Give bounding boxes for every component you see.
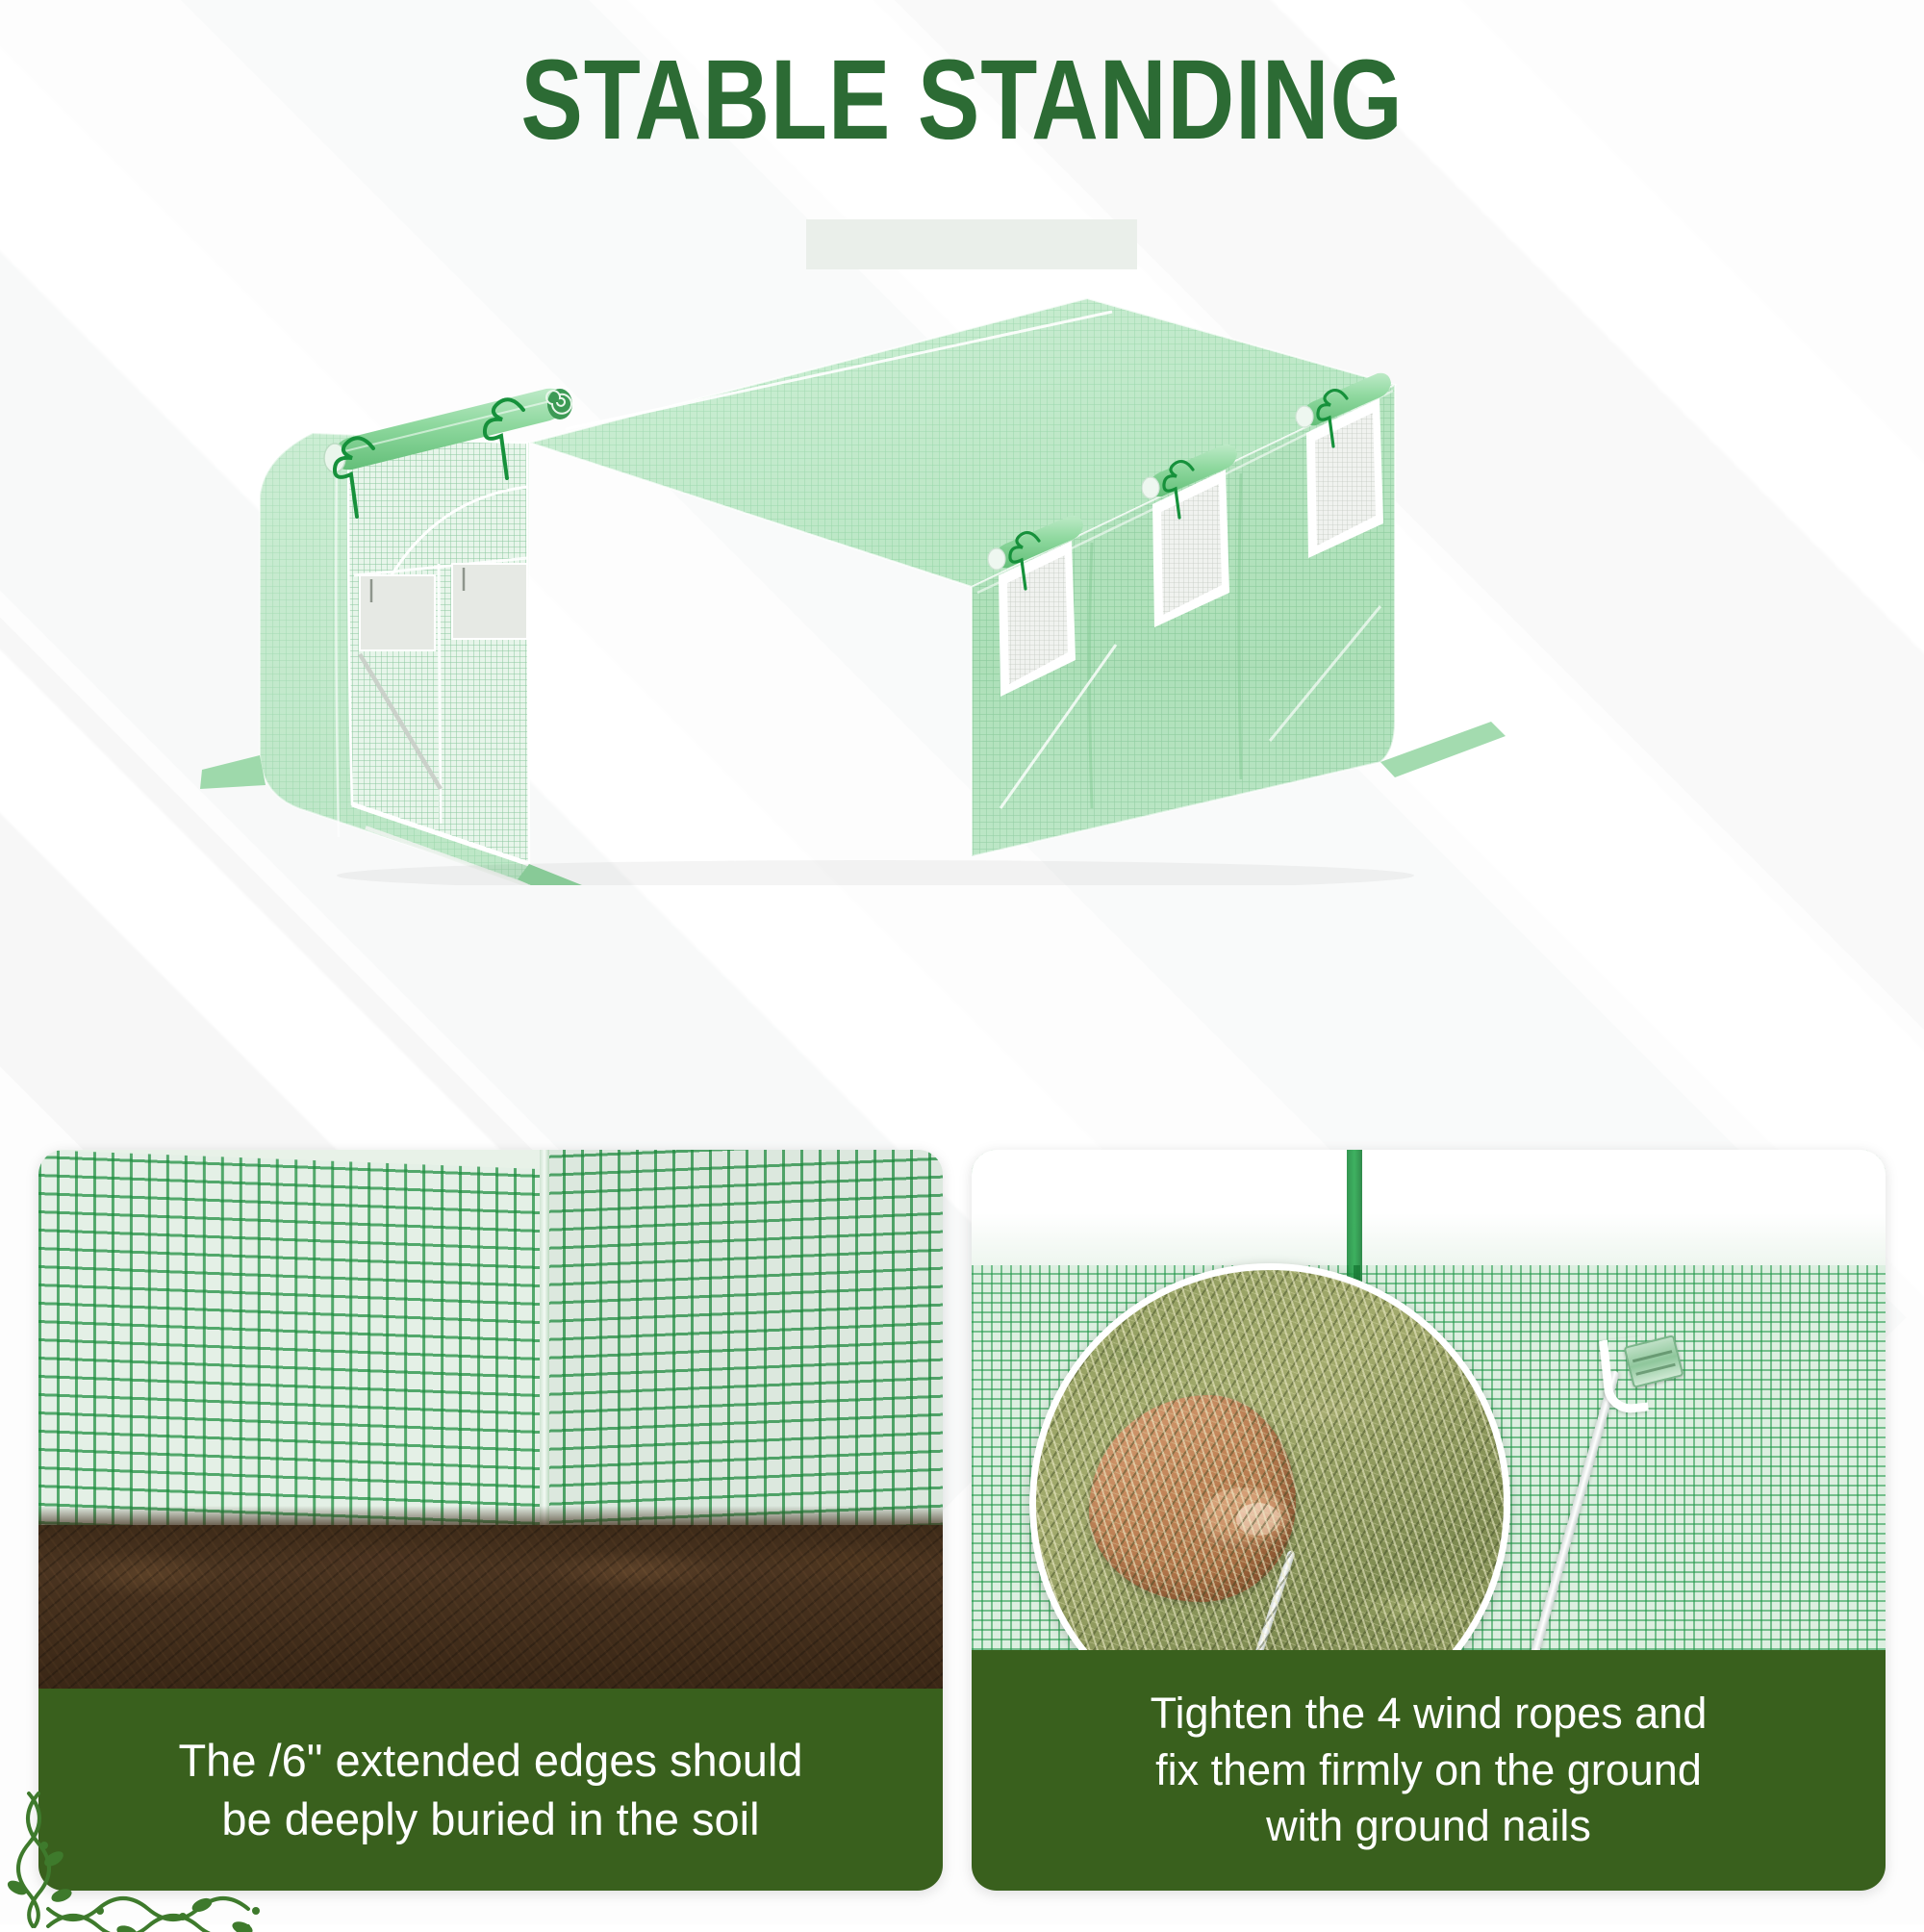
greenhouse-illustration [144,269,1780,885]
panel-photo-buried-edges [38,1150,943,1689]
ground-skirt-right [1380,722,1506,777]
caption-line: The /6" extended edges should [178,1731,802,1790]
ground-nail-inset-photo [1029,1263,1510,1650]
hand [1089,1395,1296,1602]
caption-line: Tighten the 4 wind ropes and [1151,1686,1708,1742]
subtitle-placeholder-box [806,219,1137,269]
ground-nail [1238,1550,1296,1650]
caption-line: fix them firmly on the ground [1155,1742,1702,1799]
hero-product-image [144,269,1780,885]
caption-wind-ropes: Tighten the 4 wind ropes and fix them fi… [972,1650,1886,1891]
caption-line: with ground nails [1266,1798,1591,1855]
panel-buried-edges: The /6" extended edges should be deeply … [38,1150,943,1891]
sky-roof-band [972,1150,1886,1265]
soil-mound [38,1525,943,1689]
ground-skirt-left [200,755,266,789]
page-title: STABLE STANDING [173,38,1751,164]
panel-wind-ropes: Tighten the 4 wind ropes and fix them fi… [972,1150,1886,1891]
greenhouse-front [200,389,596,885]
panel-photo-wind-ropes [972,1150,1886,1650]
title-block: STABLE STANDING [0,38,1924,164]
vine-flourish-icon [0,1788,312,1932]
